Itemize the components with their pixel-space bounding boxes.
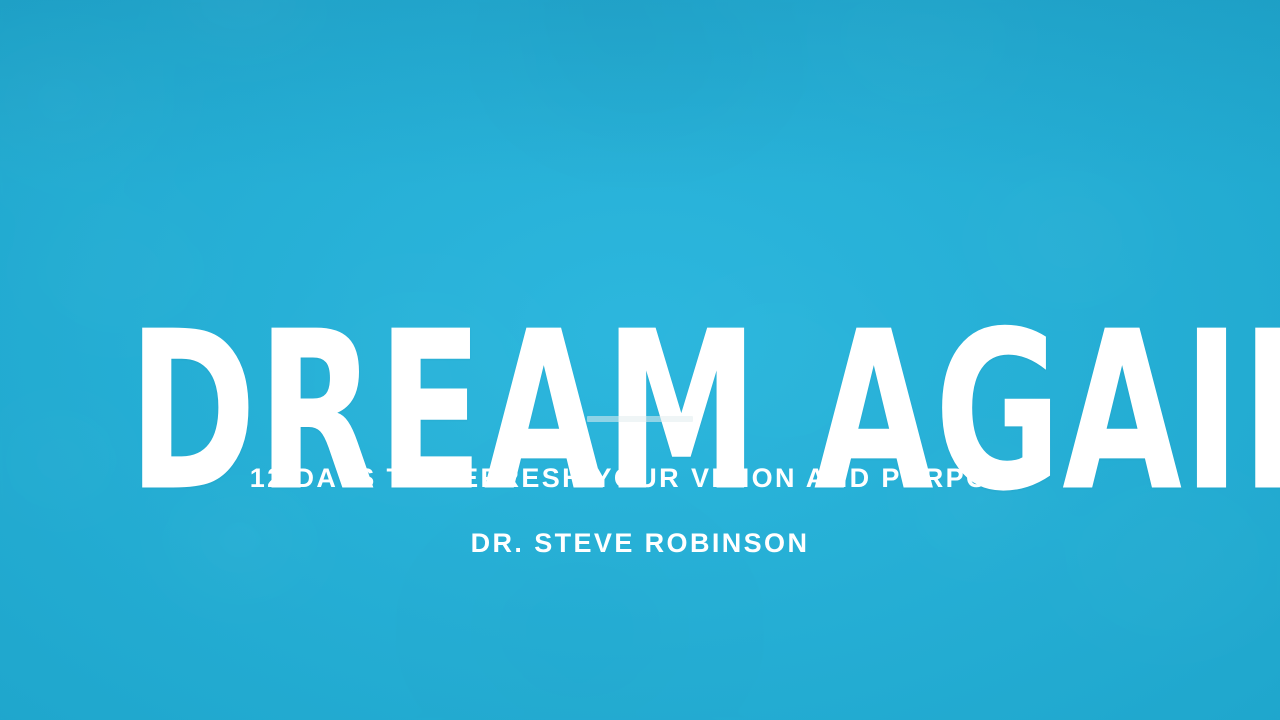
title-slide: DREAM AGAIN 12 DAYS TO REFRESH YOUR VISI… — [0, 0, 1280, 720]
slide-content: DREAM AGAIN 12 DAYS TO REFRESH YOUR VISI… — [0, 0, 1280, 720]
slide-author: DR. STEVE ROBINSON — [0, 526, 1280, 560]
title-divider — [587, 416, 693, 422]
slide-subtitle: 12 DAYS TO REFRESH YOUR VISION AND PURPO… — [0, 461, 1280, 495]
